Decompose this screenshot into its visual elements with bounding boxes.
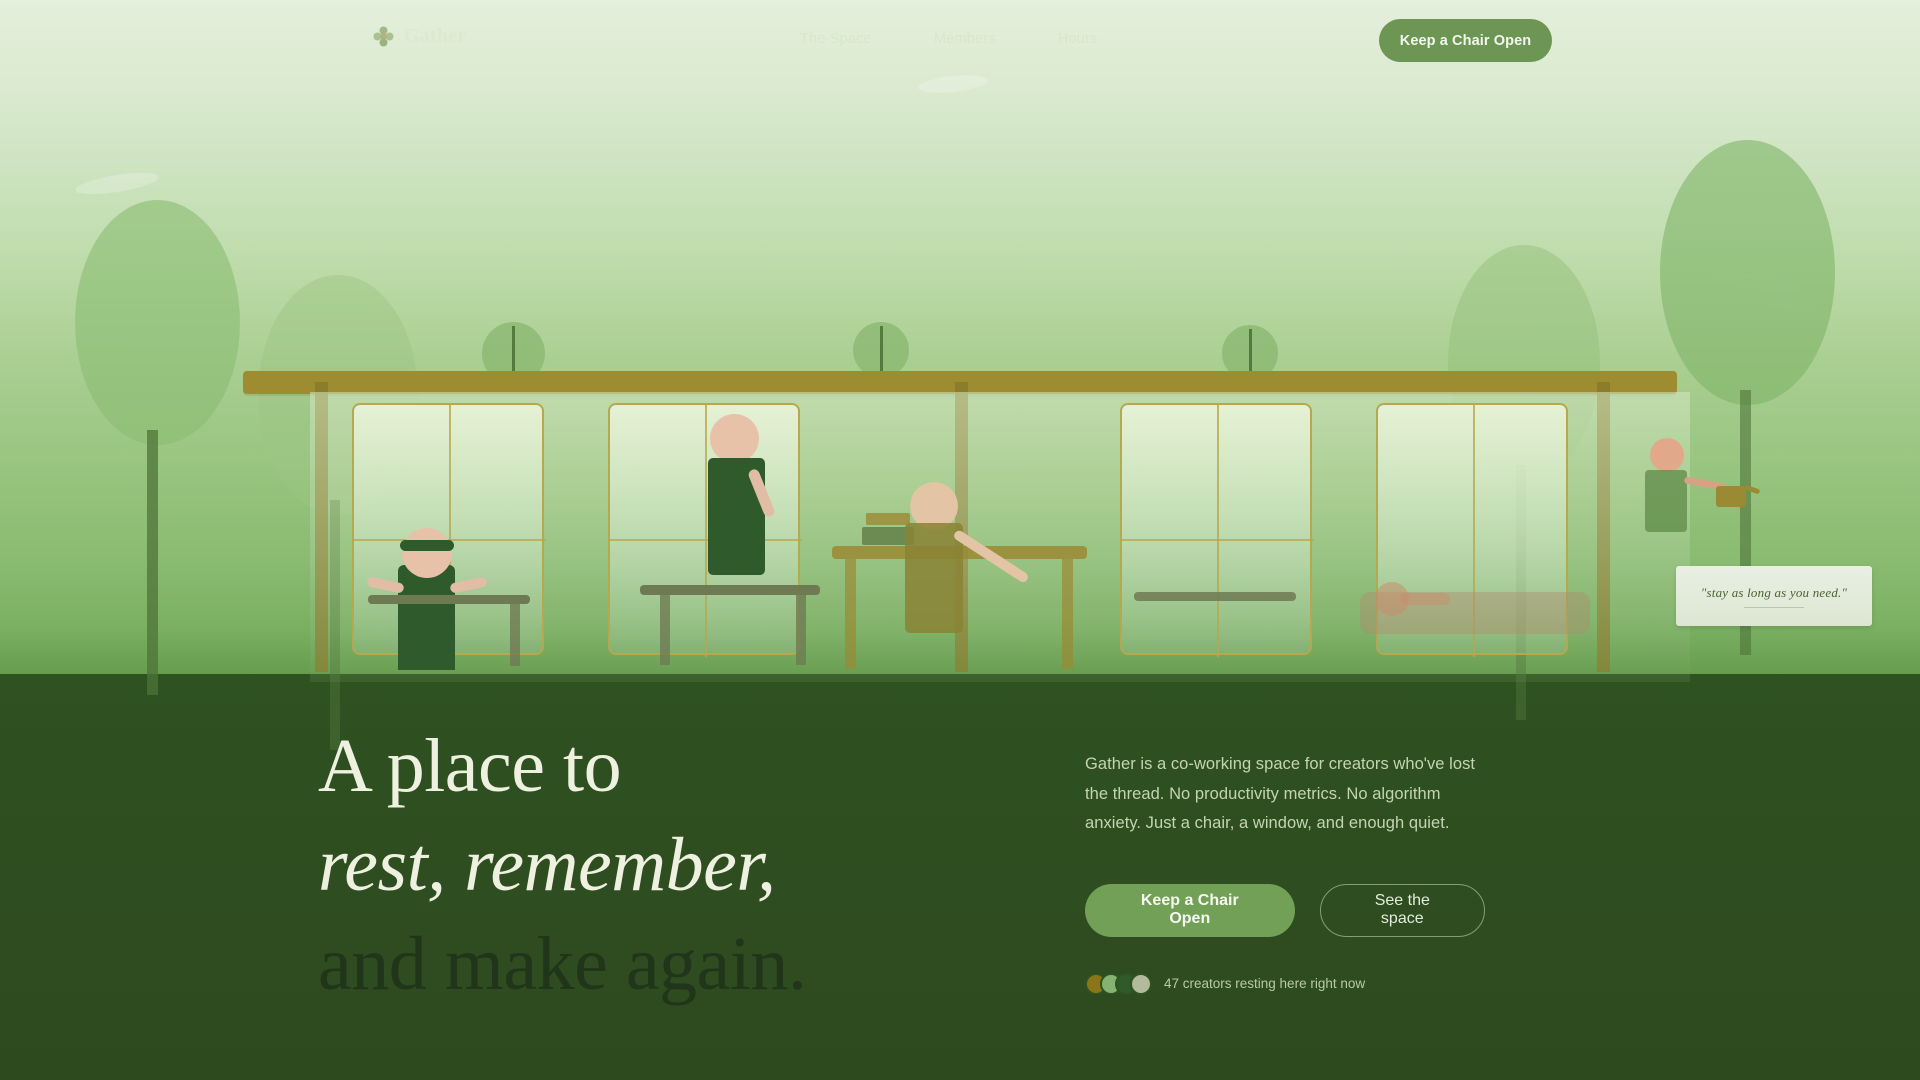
window-pane bbox=[1120, 403, 1312, 655]
nav-link-the-space[interactable]: The Space bbox=[800, 31, 872, 47]
desk-leg bbox=[660, 595, 670, 665]
page-root: "stay as long as you need." Gather The S… bbox=[0, 0, 1920, 1080]
floral-cluster-icon bbox=[373, 26, 394, 47]
book-stack bbox=[866, 513, 910, 525]
brand-logo[interactable]: Gather bbox=[373, 25, 466, 48]
avatar bbox=[1130, 973, 1152, 995]
watering-can-icon bbox=[1716, 486, 1746, 507]
nav-link-members[interactable]: Members bbox=[934, 31, 996, 47]
window-pane bbox=[608, 403, 800, 655]
hero-action-buttons: Keep a Chair Open See the space bbox=[1085, 884, 1485, 937]
nav-links: The Space Members Hours bbox=[800, 31, 1097, 47]
shelf-surface bbox=[1134, 592, 1296, 601]
table-leg bbox=[1062, 559, 1073, 669]
desk-surface bbox=[368, 595, 530, 604]
headline-line-2: rest, remember, bbox=[318, 816, 806, 915]
ground-band bbox=[0, 674, 1920, 1080]
hero-right-column: Gather is a co-working space for creator… bbox=[1085, 750, 1485, 995]
top-navbar: Gather The Space Members Hours Keep a Ch… bbox=[0, 0, 1920, 80]
page-title: A place to rest, remember, and make agai… bbox=[318, 717, 806, 1014]
wall-sign: "stay as long as you need." bbox=[1676, 566, 1872, 626]
nav-keep-a-chair-open-button[interactable]: Keep a Chair Open bbox=[1379, 19, 1552, 62]
avatar-group bbox=[1085, 973, 1145, 995]
headline-line-3: and make again. bbox=[318, 915, 806, 1014]
sign-divider bbox=[1744, 607, 1804, 608]
hero-description: Gather is a co-working space for creator… bbox=[1085, 750, 1485, 839]
hero-keep-a-chair-open-button[interactable]: Keep a Chair Open bbox=[1085, 884, 1295, 937]
presence-count-text: 47 creators resting here right now bbox=[1164, 976, 1365, 991]
nav-link-hours[interactable]: Hours bbox=[1058, 31, 1098, 47]
desk-surface bbox=[640, 585, 820, 595]
brand-name: Gather bbox=[404, 25, 466, 48]
headline-line-1: A place to bbox=[318, 717, 806, 816]
desk-leg bbox=[510, 604, 520, 666]
sign-quote-text: "stay as long as you need." bbox=[1701, 585, 1847, 601]
presence-indicator: 47 creators resting here right now bbox=[1085, 973, 1485, 995]
desk-leg bbox=[796, 595, 806, 665]
table-leg bbox=[845, 559, 856, 669]
hero-see-the-space-button[interactable]: See the space bbox=[1320, 884, 1485, 937]
